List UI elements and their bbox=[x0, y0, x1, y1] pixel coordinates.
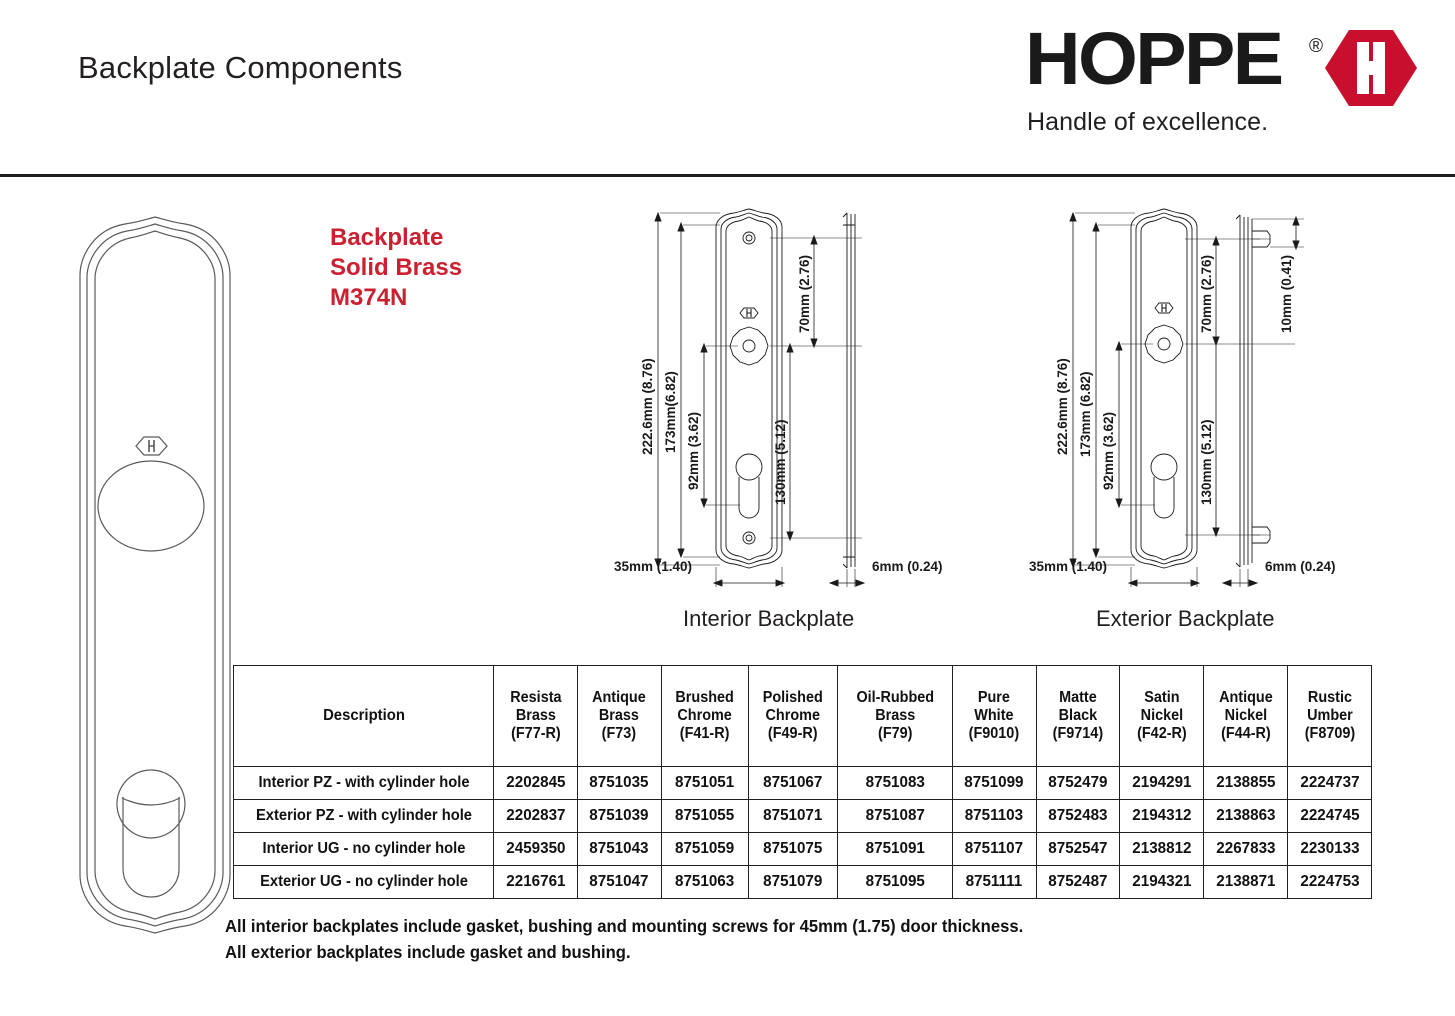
dim-overall-height: 222.6mm (8.76) bbox=[1055, 358, 1070, 455]
column-header-finish-4: Oil-RubbedBrass(F79) bbox=[842, 666, 949, 767]
column-header-finish-8: AntiqueNickel(F44-R) bbox=[1207, 666, 1285, 767]
part-number-cell: 2216761 bbox=[496, 866, 576, 899]
finish-name-line1: Brushed bbox=[666, 689, 744, 707]
finish-name-line2: Chrome bbox=[666, 707, 744, 725]
dim-overall-height: 222.6mm (8.76) bbox=[640, 358, 655, 455]
dim-thickness: 6mm (0.24) bbox=[1265, 559, 1336, 574]
dim-screw-spacing: 130mm (5.12) bbox=[1199, 419, 1214, 505]
finish-name-line1: Polished bbox=[753, 689, 833, 707]
part-number-cell: 2224753 bbox=[1290, 866, 1370, 899]
header-divider bbox=[0, 174, 1455, 177]
table-row: Exterior PZ - with cylinder hole22028378… bbox=[234, 800, 1372, 833]
logo-wordmark: HOPPE bbox=[1025, 22, 1281, 96]
column-header-finish-1: AntiqueBrass(F73) bbox=[580, 666, 658, 767]
table-row: Interior UG - no cylinder hole2459350875… bbox=[234, 833, 1372, 866]
exterior-backplate-drawing: 222.6mm (8.76) 173mm (6.82) 92mm (3.62) … bbox=[1015, 205, 1385, 595]
part-number-cell: 8751063 bbox=[663, 866, 746, 899]
row-description: Exterior PZ - with cylinder hole bbox=[240, 800, 487, 833]
part-number-cell: 2138855 bbox=[1206, 767, 1286, 800]
finish-code: (F73) bbox=[582, 725, 657, 743]
part-number-cell: 8751059 bbox=[663, 833, 746, 866]
dim-spindle-to-cylinder: 92mm (3.62) bbox=[1101, 412, 1116, 490]
row-description: Exterior UG - no cylinder hole bbox=[240, 866, 487, 899]
part-number-cell: 2194321 bbox=[1122, 866, 1202, 899]
interior-drawing-caption: Interior Backplate bbox=[683, 606, 854, 632]
part-number-cell: 2267833 bbox=[1206, 833, 1286, 866]
finish-code: (F77-R) bbox=[498, 725, 573, 743]
cylinder-keyhole bbox=[117, 770, 185, 897]
column-header-finish-9: RusticUmber(F8709) bbox=[1291, 666, 1369, 767]
dim-top-screw-to-spindle: 70mm (2.76) bbox=[1199, 255, 1214, 333]
column-header-finish-7: SatinNickel(F42-R) bbox=[1123, 666, 1201, 767]
dim-plate-height: 173mm (6.82) bbox=[1078, 371, 1093, 457]
product-caption: Backplate Solid Brass M374N bbox=[330, 223, 462, 313]
finish-code: (F44-R) bbox=[1208, 725, 1283, 743]
part-number-cell: 8751075 bbox=[751, 833, 836, 866]
part-number-cell: 2230133 bbox=[1290, 833, 1370, 866]
part-number-cell: 2194312 bbox=[1122, 800, 1202, 833]
finish-name-line1: Oil-Rubbed bbox=[843, 689, 947, 707]
product-caption-line1: Backplate bbox=[330, 223, 462, 253]
dim-stud-length: 10mm (0.41) bbox=[1279, 255, 1294, 333]
table-body: Interior PZ - with cylinder hole22028458… bbox=[234, 767, 1372, 899]
finish-code: (F9714) bbox=[1041, 725, 1116, 743]
part-number-cell: 8752547 bbox=[1038, 833, 1118, 866]
product-caption-line3: M374N bbox=[330, 283, 462, 313]
footnote-interior: All interior backplates include gasket, … bbox=[225, 913, 1023, 939]
part-number-cell: 2224745 bbox=[1290, 800, 1370, 833]
exterior-drawing-caption: Exterior Backplate bbox=[1096, 606, 1275, 632]
hoppe-hexagon-icon bbox=[1323, 28, 1419, 108]
finish-name-line1: Antique bbox=[582, 689, 657, 707]
part-number-cell: 8752487 bbox=[1038, 866, 1118, 899]
part-number-cell: 8751043 bbox=[579, 833, 659, 866]
finish-name-line2: Brass bbox=[498, 707, 573, 725]
finish-code: (F41-R) bbox=[666, 725, 744, 743]
finish-name-line2: Nickel bbox=[1208, 707, 1283, 725]
finish-code: (F49-R) bbox=[753, 725, 833, 743]
backplate-illustration bbox=[55, 215, 255, 935]
finish-code: (F9010) bbox=[957, 725, 1032, 743]
page-title: Backplate Components bbox=[78, 50, 403, 86]
part-number-cell: 2194291 bbox=[1122, 767, 1202, 800]
footnote-exterior: All exterior backplates include gasket a… bbox=[225, 939, 1023, 965]
finish-name-line2: Brass bbox=[843, 707, 947, 725]
spindle-hole bbox=[98, 461, 204, 551]
dim-width: 35mm (1.40) bbox=[1029, 559, 1107, 574]
finish-name-line2: Chrome bbox=[753, 707, 833, 725]
part-number-cell: 8751107 bbox=[954, 833, 1034, 866]
interior-backplate-drawing: 222.6mm (8.76) 173mm(6.82) 92mm (3.62) 7… bbox=[600, 205, 990, 595]
part-number-cell: 8751091 bbox=[841, 833, 950, 866]
finish-name-line2: Black bbox=[1041, 707, 1116, 725]
column-header-description: Description bbox=[243, 666, 485, 767]
finish-name-line2: Nickel bbox=[1124, 707, 1199, 725]
finish-name-line2: Umber bbox=[1292, 707, 1367, 725]
part-number-cell: 8752479 bbox=[1038, 767, 1118, 800]
finish-name-line1: Antique bbox=[1208, 689, 1283, 707]
part-number-cell: 8751083 bbox=[841, 767, 950, 800]
finish-name-line2: White bbox=[957, 707, 1032, 725]
hoppe-logo: HOPPE ® Handle of excellence. bbox=[1025, 22, 1425, 134]
column-header-finish-6: MatteBlack(F9714) bbox=[1039, 666, 1117, 767]
finish-name-line1: Rustic bbox=[1292, 689, 1367, 707]
part-number-cell: 8751099 bbox=[954, 767, 1034, 800]
dim-width: 35mm (1.40) bbox=[614, 559, 692, 574]
part-number-cell: 2202845 bbox=[496, 767, 576, 800]
part-number-table: Description ResistaBrass(F77-R)AntiqueBr… bbox=[233, 665, 1372, 899]
part-number-cell: 2138863 bbox=[1206, 800, 1286, 833]
column-header-finish-2: BrushedChrome(F41-R) bbox=[664, 666, 745, 767]
finish-code: (F79) bbox=[843, 725, 947, 743]
part-number-cell: 8751079 bbox=[751, 866, 836, 899]
dim-spindle-to-cylinder: 92mm (3.62) bbox=[686, 412, 701, 490]
part-number-cell: 2459350 bbox=[496, 833, 576, 866]
part-number-cell: 8751035 bbox=[579, 767, 659, 800]
part-number-cell: 8751051 bbox=[663, 767, 746, 800]
finish-name-line1: Matte bbox=[1041, 689, 1116, 707]
logo-tagline: Handle of excellence. bbox=[1027, 108, 1268, 137]
part-number-cell: 8751039 bbox=[579, 800, 659, 833]
part-number-cell: 8751095 bbox=[841, 866, 950, 899]
finish-name-line2: Brass bbox=[582, 707, 657, 725]
finish-code: (F8709) bbox=[1292, 725, 1367, 743]
finish-name-line1: Satin bbox=[1124, 689, 1199, 707]
finish-name-line1: Resista bbox=[498, 689, 573, 707]
footnotes: All interior backplates include gasket, … bbox=[225, 913, 1065, 965]
product-caption-line2: Solid Brass bbox=[330, 253, 462, 283]
table-row: Exterior UG - no cylinder hole2216761875… bbox=[234, 866, 1372, 899]
finish-code: (F42-R) bbox=[1124, 725, 1199, 743]
column-header-finish-5: PureWhite(F9010) bbox=[955, 666, 1033, 767]
part-number-cell: 8751103 bbox=[954, 800, 1034, 833]
part-number-cell: 8751067 bbox=[751, 767, 836, 800]
hoppe-mark-icon bbox=[136, 437, 167, 455]
dim-screw-spacing: 130mm (5.12) bbox=[773, 419, 788, 505]
part-number-cell: 8751047 bbox=[579, 866, 659, 899]
dim-plate-height: 173mm(6.82) bbox=[663, 371, 678, 453]
part-number-cell: 2202837 bbox=[496, 800, 576, 833]
part-number-cell: 8751071 bbox=[751, 800, 836, 833]
dim-top-screw-to-spindle: 70mm (2.76) bbox=[797, 255, 812, 333]
table-header-row: Description ResistaBrass(F77-R)AntiqueBr… bbox=[234, 666, 1372, 767]
part-number-cell: 2224737 bbox=[1290, 767, 1370, 800]
part-number-cell: 8751055 bbox=[663, 800, 746, 833]
row-description: Interior UG - no cylinder hole bbox=[240, 833, 487, 866]
finish-name-line1: Pure bbox=[957, 689, 1032, 707]
column-header-finish-0: ResistaBrass(F77-R) bbox=[496, 666, 574, 767]
table-row: Interior PZ - with cylinder hole22028458… bbox=[234, 767, 1372, 800]
dim-thickness: 6mm (0.24) bbox=[872, 559, 943, 574]
column-header-finish-3: PolishedChrome(F49-R) bbox=[751, 666, 834, 767]
registered-trademark-icon: ® bbox=[1309, 36, 1323, 58]
part-number-cell: 8752483 bbox=[1038, 800, 1118, 833]
part-number-cell: 2138871 bbox=[1206, 866, 1286, 899]
part-number-cell: 8751111 bbox=[954, 866, 1034, 899]
part-number-cell: 8751087 bbox=[841, 800, 950, 833]
part-number-cell: 2138812 bbox=[1122, 833, 1202, 866]
row-description: Interior PZ - with cylinder hole bbox=[240, 767, 487, 800]
